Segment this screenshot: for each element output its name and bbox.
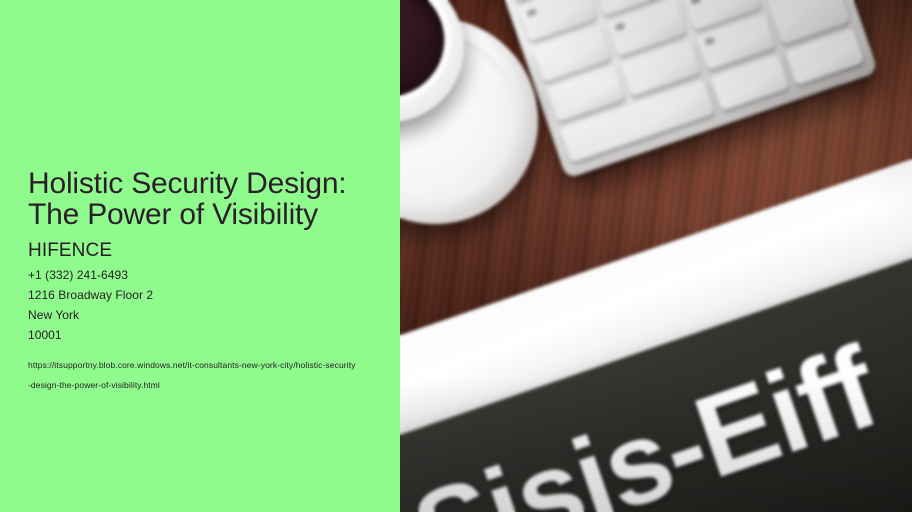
page-title: Holistic Security Design: The Power of V… <box>28 168 372 230</box>
contact-street-address: 1216 Broadway Floor 2 <box>28 285 372 305</box>
article-text-block: Holistic Security Design: The Power of V… <box>28 168 372 395</box>
brand-name: HIFENCE <box>28 240 372 262</box>
hero-photo: Sisis-Eiff <box>400 0 912 512</box>
left-content-panel: Holistic Security Design: The Power of V… <box>0 0 400 512</box>
contact-postal-code: 10001 <box>28 325 372 345</box>
contact-city: New York <box>28 305 372 325</box>
source-url[interactable]: https://itsupportny.blob.core.windows.ne… <box>28 355 358 395</box>
poster-canvas: Holistic Security Design: The Power of V… <box>0 0 912 512</box>
contact-phone: +1 (332) 241-6493 <box>28 265 372 285</box>
